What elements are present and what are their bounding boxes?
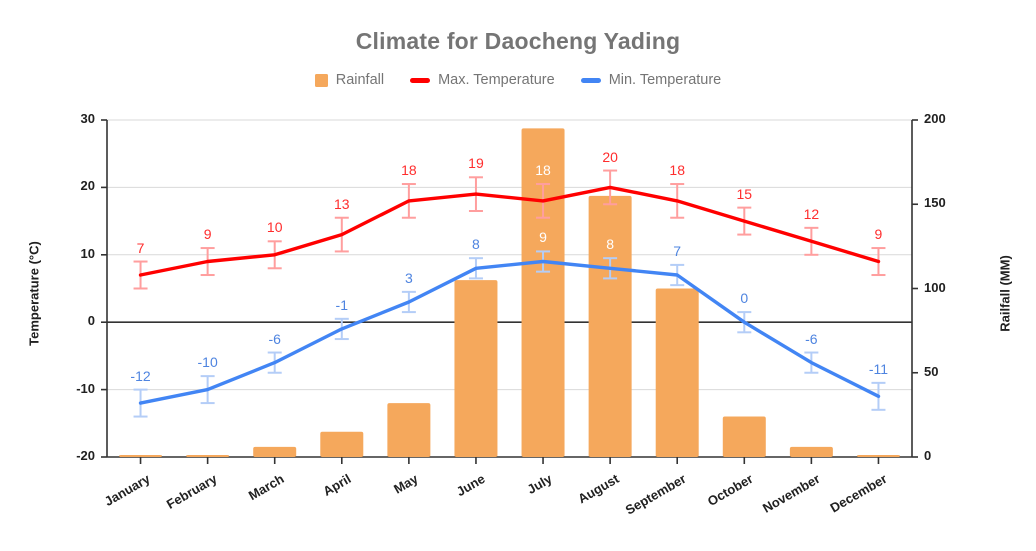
rainfall-bar[interactable] — [454, 280, 497, 457]
max-temperature-value-label: 13 — [322, 196, 362, 212]
min-temperature-value-label: 7 — [657, 243, 697, 259]
rainfall-bar[interactable] — [790, 447, 833, 457]
rainfall-bar[interactable] — [589, 196, 632, 457]
min-temperature-line[interactable] — [141, 262, 879, 404]
y-tick-label-left: 10 — [55, 246, 95, 261]
min-temperature-value-label: -6 — [255, 331, 295, 347]
max-temperature-value-label: 9 — [858, 226, 898, 242]
min-temperature-value-label: 0 — [724, 290, 764, 306]
y-tick-label-left: -20 — [55, 448, 95, 463]
rainfall-bar[interactable] — [723, 417, 766, 457]
y-tick-label-right: 200 — [924, 111, 968, 126]
y-tick-label-left: 30 — [55, 111, 95, 126]
max-temperature-value-label: 9 — [188, 226, 228, 242]
max-temperature-value-label: 10 — [255, 219, 295, 235]
rainfall-bar[interactable] — [656, 289, 699, 458]
y-tick-label-right: 50 — [924, 364, 968, 379]
y-tick-label-right: 0 — [924, 448, 968, 463]
max-temperature-value-label: 19 — [456, 155, 496, 171]
rainfall-bar[interactable] — [253, 447, 296, 457]
min-temperature-value-label: -12 — [121, 368, 161, 384]
min-temperature-value-label: 3 — [389, 270, 429, 286]
y-tick-label-left: 20 — [55, 178, 95, 193]
max-temperature-value-label: 12 — [791, 206, 831, 222]
y-tick-label-left: -10 — [55, 381, 95, 396]
rainfall-bar[interactable] — [387, 403, 430, 457]
max-temperature-value-label: 15 — [724, 186, 764, 202]
min-temperature-value-label: -1 — [322, 297, 362, 313]
max-temperature-line[interactable] — [141, 187, 879, 275]
min-temperature-value-label: -11 — [858, 361, 898, 377]
rainfall-bar[interactable] — [857, 455, 900, 457]
rainfall-bar[interactable] — [119, 455, 162, 457]
y-tick-label-left: 0 — [55, 313, 95, 328]
max-temperature-value-label: 20 — [590, 149, 630, 165]
min-temperature-value-label: 8 — [590, 236, 630, 252]
min-temperature-value-label: -10 — [188, 354, 228, 370]
climate-chart: Climate for Daocheng Yading Rainfall Max… — [0, 0, 1036, 551]
y-tick-label-right: 150 — [924, 195, 968, 210]
max-temperature-value-label: 7 — [121, 240, 161, 256]
min-temperature-value-label: -6 — [791, 331, 831, 347]
rainfall-bar[interactable] — [320, 432, 363, 457]
y-tick-label-right: 100 — [924, 280, 968, 295]
max-temperature-value-label: 18 — [389, 162, 429, 178]
rainfall-bar[interactable] — [186, 455, 229, 457]
min-temperature-value-label: 9 — [523, 229, 563, 245]
min-temperature-value-label: 8 — [456, 236, 496, 252]
max-temperature-value-label: 18 — [657, 162, 697, 178]
plot-area — [0, 0, 1036, 551]
max-temperature-value-label: 18 — [523, 162, 563, 178]
